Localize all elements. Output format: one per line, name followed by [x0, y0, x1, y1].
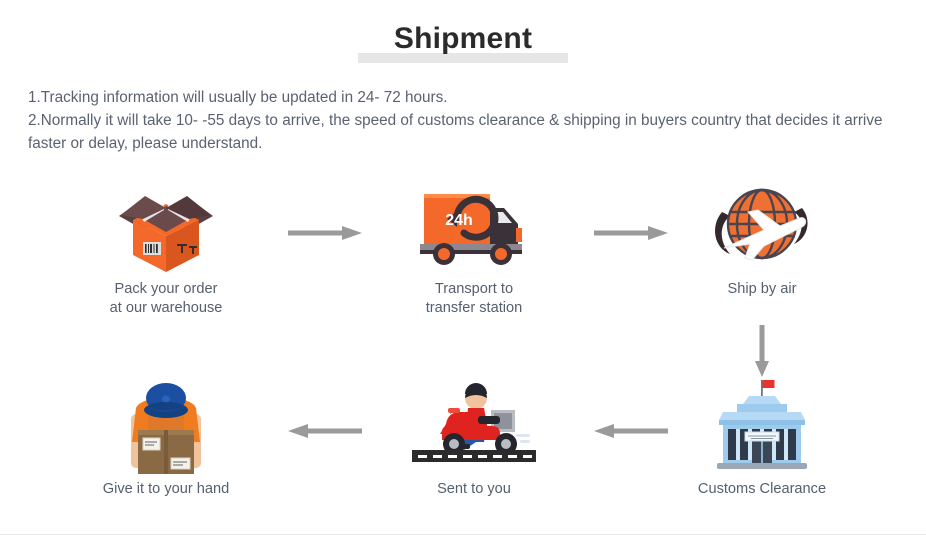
open-box-icon	[66, 168, 266, 280]
step-caption: Ship by air	[662, 280, 862, 299]
step-give-to-hand: Give it to your hand	[66, 368, 266, 499]
bottom-divider	[0, 534, 926, 535]
step-customs-clearance: Customs Clearance	[662, 368, 862, 499]
step-caption-line2: at our warehouse	[66, 299, 266, 318]
shipping-note-2: 2.Normally it will take 10- -55 days to …	[28, 109, 896, 155]
shipping-note-1: 1.Tracking information will usually be u…	[28, 86, 896, 109]
arrow-left-scooter-to-hand	[288, 423, 362, 439]
step-caption: Pack your order at our warehouse	[66, 280, 266, 318]
step-caption-line2: transfer station	[374, 299, 574, 318]
page-title-wrapper: Shipment	[0, 22, 926, 56]
arrow-right-pack-to-transport	[288, 225, 362, 241]
step-caption-line1: Ship by air	[662, 280, 862, 299]
arrow-left-customs-to-scooter	[594, 423, 668, 439]
step-caption: Customs Clearance	[662, 480, 862, 499]
delivery-truck-24h-icon: 24h	[374, 168, 574, 280]
step-caption: Sent to you	[374, 480, 574, 499]
step-caption-line1: Pack your order	[66, 280, 266, 299]
step-sent-to-you: Sent to you	[374, 368, 574, 499]
step-caption: Give it to your hand	[66, 480, 266, 499]
process-row-bottom: Give it to your hand	[0, 368, 926, 528]
process-row-top: Pack your order at our warehouse	[0, 168, 926, 328]
courier-with-parcel-icon	[66, 368, 266, 480]
step-caption: Transport to transfer station	[374, 280, 574, 318]
step-caption-line1: Customs Clearance	[662, 480, 862, 499]
customs-building-icon	[662, 368, 862, 480]
arrow-down-air-to-customs	[754, 325, 770, 377]
step-caption-line1: Give it to your hand	[66, 480, 266, 499]
step-caption-line1: Sent to you	[374, 480, 574, 499]
delivery-scooter-icon	[374, 368, 574, 480]
truck-24h-label: 24h	[445, 212, 473, 229]
page-title: Shipment	[386, 22, 540, 55]
arrow-right-transport-to-air	[594, 225, 668, 241]
shipment-infographic: Shipment 1.Tracking information will usu…	[0, 0, 926, 551]
step-caption-line1: Transport to	[374, 280, 574, 299]
shipping-notes: 1.Tracking information will usually be u…	[28, 86, 896, 155]
step-ship-by-air: Ship by air	[662, 168, 862, 299]
step-transport: 24h Transport to transfer station	[374, 168, 574, 318]
step-pack-order: Pack your order at our warehouse	[66, 168, 266, 318]
globe-airplane-icon	[662, 168, 862, 280]
